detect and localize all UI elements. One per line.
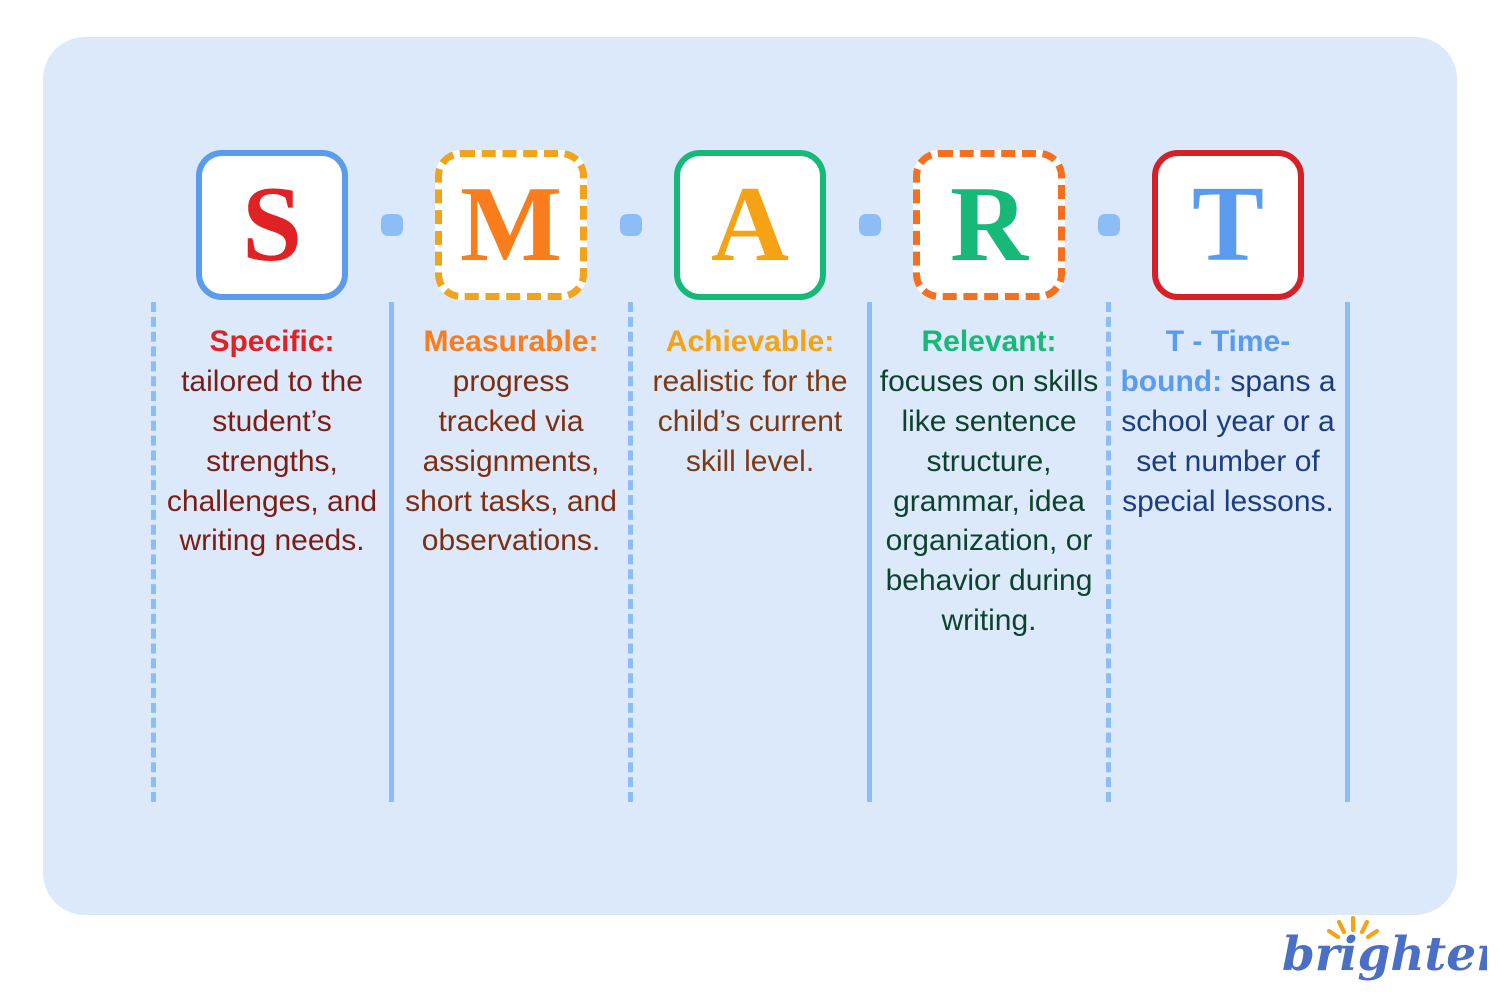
letter-slot-a: A	[631, 150, 870, 300]
column-text-relevant: Relevant: focuses on skills like sentenc…	[878, 322, 1101, 641]
brighterly-wordmark: brighterly	[1282, 927, 1487, 982]
column-title-specific: Specific:	[209, 325, 334, 358]
letter-box-r[interactable]: R	[913, 150, 1065, 300]
column-title-relevant: Relevant:	[921, 325, 1056, 358]
letter-slot-r: R	[870, 150, 1109, 300]
column-body-achievable: realistic for the child’s current skill …	[652, 365, 847, 478]
column-body-relevant: focuses on skills like sentence structur…	[880, 365, 1098, 637]
column-divider-right-5	[1345, 302, 1350, 802]
letter-glyph-r: R	[950, 171, 1028, 279]
column-text-measurable: Measurable: progress tracked via assignm…	[400, 322, 623, 561]
column-divider-left-1	[151, 302, 156, 802]
letter-box-m[interactable]: M	[435, 150, 587, 300]
smart-letter-row: S M A R T	[43, 147, 1457, 302]
column-specific: Specific: tailored to the student’s stre…	[153, 302, 392, 832]
column-text-specific: Specific: tailored to the student’s stre…	[161, 322, 384, 561]
column-measurable: Measurable: progress tracked via assignm…	[392, 302, 631, 832]
column-title-achievable: Achievable:	[666, 325, 834, 358]
column-time-bound: T - Time-bound: spans a school year or a…	[1109, 302, 1348, 832]
column-text-time-bound: T - Time-bound: spans a school year or a…	[1117, 322, 1340, 521]
letter-glyph-t: T	[1192, 171, 1264, 279]
letter-slot-s: S	[153, 150, 392, 300]
smart-columns: Specific: tailored to the student’s stre…	[43, 302, 1457, 832]
letter-box-a[interactable]: A	[674, 150, 826, 300]
letter-box-s[interactable]: S	[196, 150, 348, 300]
column-body-specific: tailored to the student’s strengths, cha…	[167, 365, 377, 558]
letter-box-t[interactable]: T	[1152, 150, 1304, 300]
letter-glyph-m: M	[460, 171, 562, 279]
column-achievable: Achievable: realistic for the child’s cu…	[631, 302, 870, 832]
letter-slot-m: M	[392, 150, 631, 300]
column-relevant: Relevant: focuses on skills like sentenc…	[870, 302, 1109, 832]
infographic-card: S M A R T	[43, 37, 1457, 915]
column-text-achievable: Achievable: realistic for the child’s cu…	[639, 322, 862, 482]
letter-glyph-a: A	[711, 171, 789, 279]
column-title-measurable: Measurable:	[423, 325, 598, 358]
brighterly-logo: brighterly	[1282, 916, 1487, 984]
letter-glyph-s: S	[242, 171, 302, 279]
letter-slot-t: T	[1109, 150, 1348, 300]
column-body-measurable: progress tracked via assignments, short …	[405, 365, 617, 558]
